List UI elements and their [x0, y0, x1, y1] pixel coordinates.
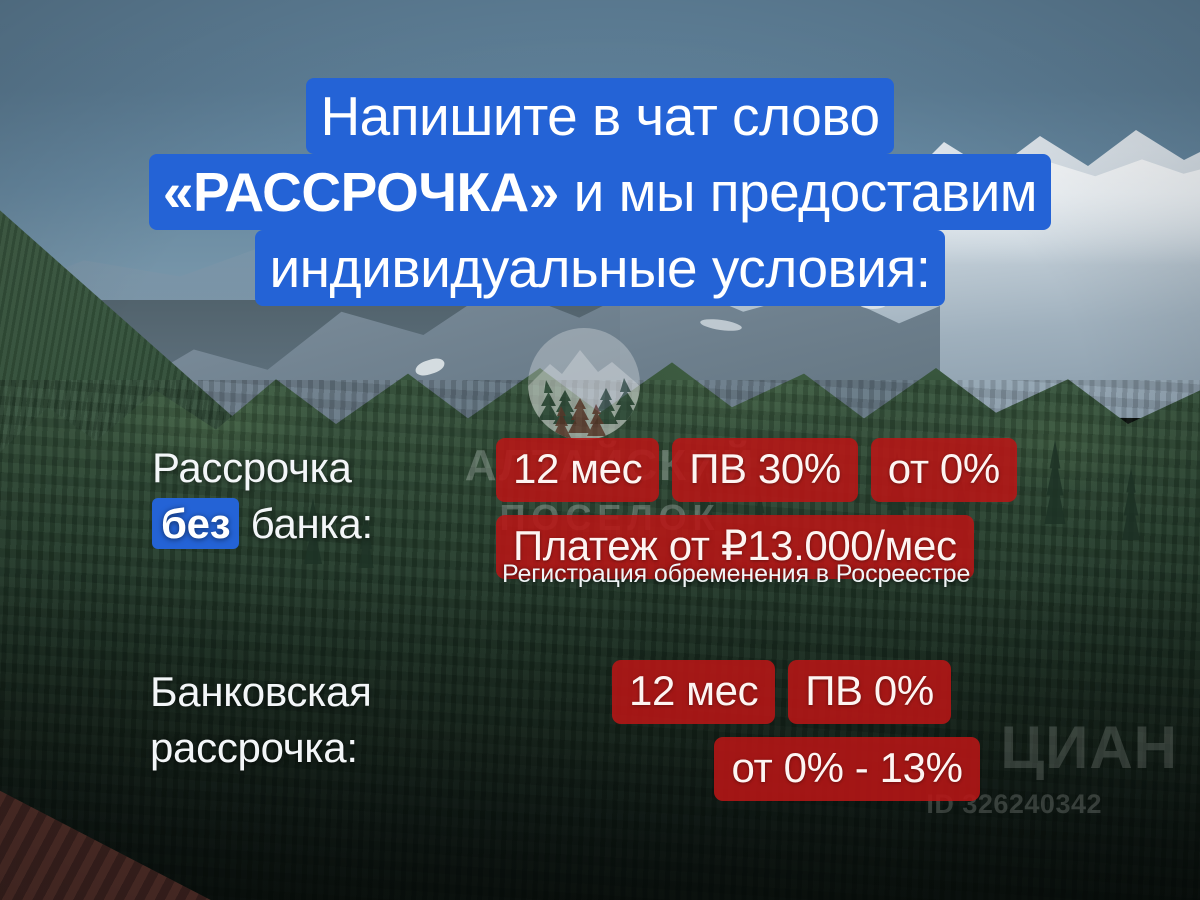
headline-line-3-text: индивидуальные условия: — [255, 230, 944, 306]
offer-label-no-bank-line2-rest: банка: — [239, 500, 373, 547]
headline-line-3: индивидуальные условия: — [0, 236, 1200, 300]
headline-line-1: Напишите в чат слово — [0, 84, 1200, 148]
promo-poster: АЛТАЙСКИЙ ПОСЕЛОК ЦИАН ID 326240342 Напи… — [0, 0, 1200, 900]
offer-label-no-bank-line1: Рассрочка — [152, 440, 373, 496]
offer-chips-bank: 12 мес ПВ 0% от 0% - 13% — [612, 660, 1082, 801]
offer-label-no-bank-line2: без банка: — [152, 496, 373, 552]
offer-note-no-bank: Регистрация обременения в Росреестре — [502, 558, 970, 590]
offer-label-bank-line1: Банковская — [150, 664, 372, 720]
headline-line-2-rest: и мы предоставим — [559, 161, 1037, 223]
offer-chip: ПВ 30% — [672, 438, 858, 502]
headline: Напишите в чат слово «РАССРОЧКА» и мы пр… — [0, 84, 1200, 312]
headline-line-2-text: «РАССРОЧКА» и мы предоставим — [149, 154, 1051, 230]
offer-label-bank-line2: рассрочка: — [150, 720, 372, 776]
offer-chip: от 0% - 13% — [714, 737, 979, 801]
headline-line-2: «РАССРОЧКА» и мы предоставим — [0, 160, 1200, 224]
headline-line-1-text: Напишите в чат слово — [306, 78, 893, 154]
offer-chip: 12 мес — [612, 660, 775, 724]
offer-label-no-bank: Рассрочка без банка: — [152, 440, 373, 552]
offer-label-highlight: без — [152, 498, 239, 549]
offer-chip: от 0% — [871, 438, 1017, 502]
offer-chip-row: от 0% - 13% — [612, 737, 1082, 801]
offer-chip: ПВ 0% — [788, 660, 951, 724]
headline-keyword: «РАССРОЧКА» — [163, 161, 559, 223]
offer-label-bank: Банковская рассрочка: — [150, 664, 372, 776]
offer-chip: 12 мес — [496, 438, 659, 502]
